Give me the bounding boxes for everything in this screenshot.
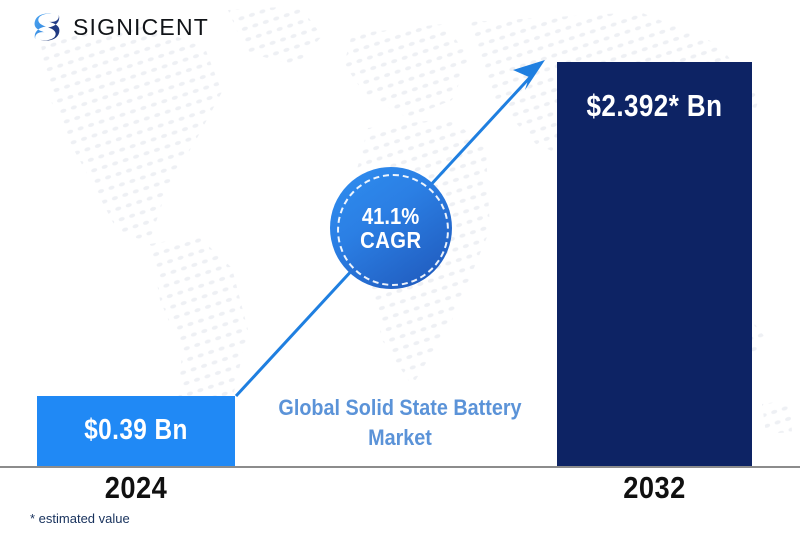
- bar-2024[interactable]: $0.39 Bn: [37, 396, 235, 466]
- cagr-percent: 41.1%: [362, 204, 419, 228]
- bar-value-2032: $2.392* Bn: [573, 88, 737, 124]
- cagr-label: CAGR: [360, 228, 421, 252]
- brand-logo: SIGNICENT: [30, 10, 209, 44]
- chart-title-line-2: Market: [276, 423, 524, 453]
- cagr-badge[interactable]: 41.1% CAGR: [330, 167, 452, 289]
- axis-label-2032: 2032: [569, 470, 741, 506]
- brand-name: SIGNICENT: [73, 14, 209, 41]
- axis-label-2024: 2024: [49, 470, 223, 506]
- chart-canvas: SIGNICENT $0.39 Bn $2.392* Bn Global Sol…: [0, 0, 800, 545]
- axis-baseline: [0, 466, 800, 468]
- bar-value-2024: $0.39 Bn: [53, 414, 219, 447]
- signicent-s-logo-icon: [30, 10, 64, 44]
- bar-2032[interactable]: $2.392* Bn: [557, 62, 752, 466]
- chart-title-line-1: Global Solid State Battery: [276, 393, 524, 423]
- footnote: * estimated value: [30, 511, 130, 526]
- chart-title: Global Solid State Battery Market: [276, 393, 524, 453]
